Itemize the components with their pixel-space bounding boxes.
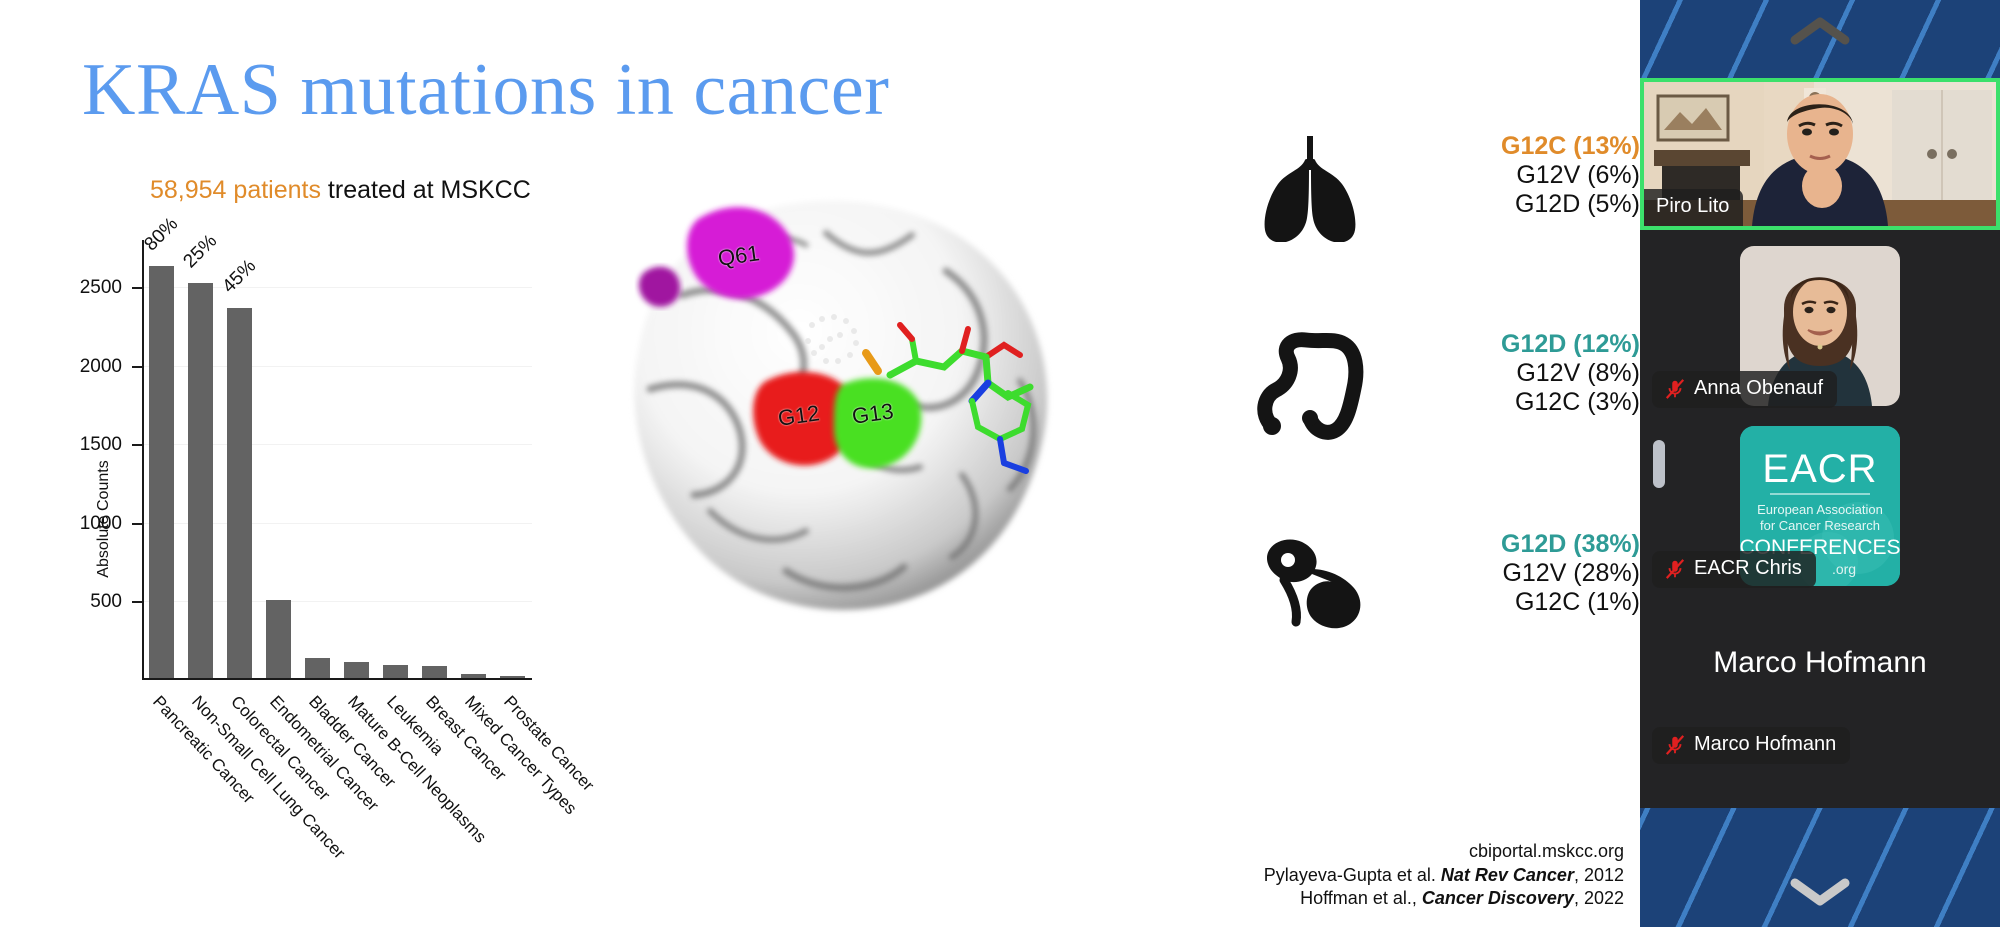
participant-name-chip: Piro Lito (1644, 189, 1743, 226)
slide-subtitle: 58,954 patients treated at MSKCC (150, 176, 531, 205)
microphone-muted-icon (1664, 378, 1686, 400)
subtitle-patient-count: 58,954 patients (150, 176, 321, 204)
video-participants-panel: Piro Lito (1640, 0, 2000, 927)
citation-block: cbiportal.mskcc.org Pylayeva-Gupta et al… (1264, 840, 1624, 911)
chart-y-tick-label: 2500 (80, 277, 122, 299)
chart-bar-annotation: 25% (180, 230, 222, 272)
chart-bar (344, 662, 370, 679)
participant-tile-active-speaker[interactable]: Piro Lito (1640, 78, 2000, 230)
mutation-secondary-1: G12V (28%) (1440, 559, 1640, 588)
participant-name-chip: EACR Chris (1652, 551, 1816, 588)
citation-3-year: , 2022 (1574, 888, 1624, 908)
chart-y-tick-label: 1000 (80, 513, 122, 535)
mutation-list-pancreas: G12D (38%) G12V (28%) G12C (1%) (1440, 530, 1640, 617)
chart-y-tick-label: 500 (90, 591, 122, 613)
mutation-secondary-1: G12V (6%) (1440, 161, 1640, 190)
chart-y-tick-label: 2000 (80, 356, 122, 378)
mutation-secondary-2: G12C (3%) (1440, 388, 1640, 417)
chart-bar-annotation: 80% (141, 214, 183, 256)
chart-bar (383, 665, 409, 678)
kras-protein-structure-image: Q61 G12 G13 (590, 175, 1110, 635)
chart-y-tick: 2000 (132, 366, 142, 368)
chart-bar (266, 600, 292, 678)
participant-name-chip: Anna Obenauf (1652, 371, 1837, 408)
presentation-slide: KRAS mutations in cancer 58,954 patients… (0, 0, 1640, 927)
mutation-secondary-2: G12C (1%) (1440, 588, 1640, 617)
chart-y-tick: 500 (132, 601, 142, 603)
citation-line-2: Pylayeva-Gupta et al. Nat Rev Cancer, 20… (1264, 864, 1624, 888)
citation-line-1: cbiportal.mskcc.org (1264, 840, 1624, 864)
chart-bar (305, 658, 331, 678)
mutation-secondary-1: G12V (8%) (1440, 359, 1640, 388)
citation-3-authors: Hoffman et al., (1300, 888, 1422, 908)
participant-tile-eacr-chris[interactable]: EACR European Association for Cancer Res… (1640, 418, 2000, 594)
mutation-list-lung: G12C (13%) G12V (6%) G12D (5%) (1440, 132, 1640, 219)
participant-name: Piro Lito (1656, 195, 1729, 218)
participant-tile-list: Piro Lito (1640, 78, 2000, 808)
page-title: KRAS mutations in cancer (82, 48, 889, 133)
chart-y-tick: 1000 (132, 523, 142, 525)
mutation-primary: G12D (12%) (1440, 330, 1640, 359)
svg-text:.org: .org (1832, 561, 1856, 577)
microphone-muted-icon (1664, 558, 1686, 580)
participant-display-name: Marco Hofmann (1640, 646, 2000, 680)
mutation-list-colon: G12D (12%) G12V (8%) G12C (3%) (1440, 330, 1640, 417)
panel-drag-handle[interactable] (1653, 440, 1665, 488)
microphone-muted-icon (1664, 734, 1686, 756)
chart-plot-area: 5001000150020002500 80%25%45% Pancreatic… (142, 240, 532, 680)
citation-line-3: Hoffman et al., Cancer Discovery, 2022 (1264, 887, 1624, 911)
participant-name-chip: Marco Hofmann (1652, 727, 1850, 764)
bar-chart: Absolute Counts 5001000150020002500 80%2… (52, 210, 572, 910)
participant-name: Anna Obenauf (1694, 377, 1823, 400)
chart-bar (500, 676, 526, 678)
chart-y-tick: 1500 (132, 444, 142, 446)
chart-bar (149, 266, 175, 678)
citation-2-journal: Nat Rev Cancer (1441, 865, 1574, 885)
chart-bar (461, 674, 487, 678)
participant-name: EACR Chris (1694, 557, 1802, 580)
participant-tile-anna-obenauf[interactable]: Anna Obenauf (1640, 238, 2000, 414)
chevron-up-icon[interactable] (1787, 14, 1853, 50)
colon-icon (1250, 330, 1430, 445)
citation-2-year: , 2012 (1574, 865, 1624, 885)
chart-y-tick: 2500 (132, 287, 142, 289)
participant-tile-marco-hofmann[interactable]: Marco Hofmann Marco Hofmann (1640, 598, 2000, 778)
mutation-primary: G12D (38%) (1440, 530, 1640, 559)
pancreas-icon (1250, 530, 1430, 645)
chart-y-axis (142, 240, 144, 680)
chart-bar (227, 308, 253, 678)
svg-text:EACR: EACR (1762, 447, 1877, 491)
svg-text:European Association: European Association (1757, 502, 1883, 517)
subtitle-rest: treated at MSKCC (321, 176, 531, 204)
chart-bar (188, 283, 214, 678)
participant-name: Marco Hofmann (1694, 733, 1836, 756)
chart-bar (422, 666, 448, 678)
lungs-icon (1250, 132, 1430, 247)
mutation-secondary-2: G12D (5%) (1440, 190, 1640, 219)
chart-bar-annotation: 45% (219, 255, 261, 297)
svg-text:for Cancer Research: for Cancer Research (1760, 518, 1880, 533)
mutation-primary: G12C (13%) (1440, 132, 1640, 161)
chart-y-tick-label: 1500 (80, 434, 122, 456)
chevron-down-icon[interactable] (1787, 873, 1853, 909)
citation-2-authors: Pylayeva-Gupta et al. (1264, 865, 1441, 885)
chart-x-axis (142, 678, 532, 680)
citation-3-journal: Cancer Discovery (1422, 888, 1574, 908)
